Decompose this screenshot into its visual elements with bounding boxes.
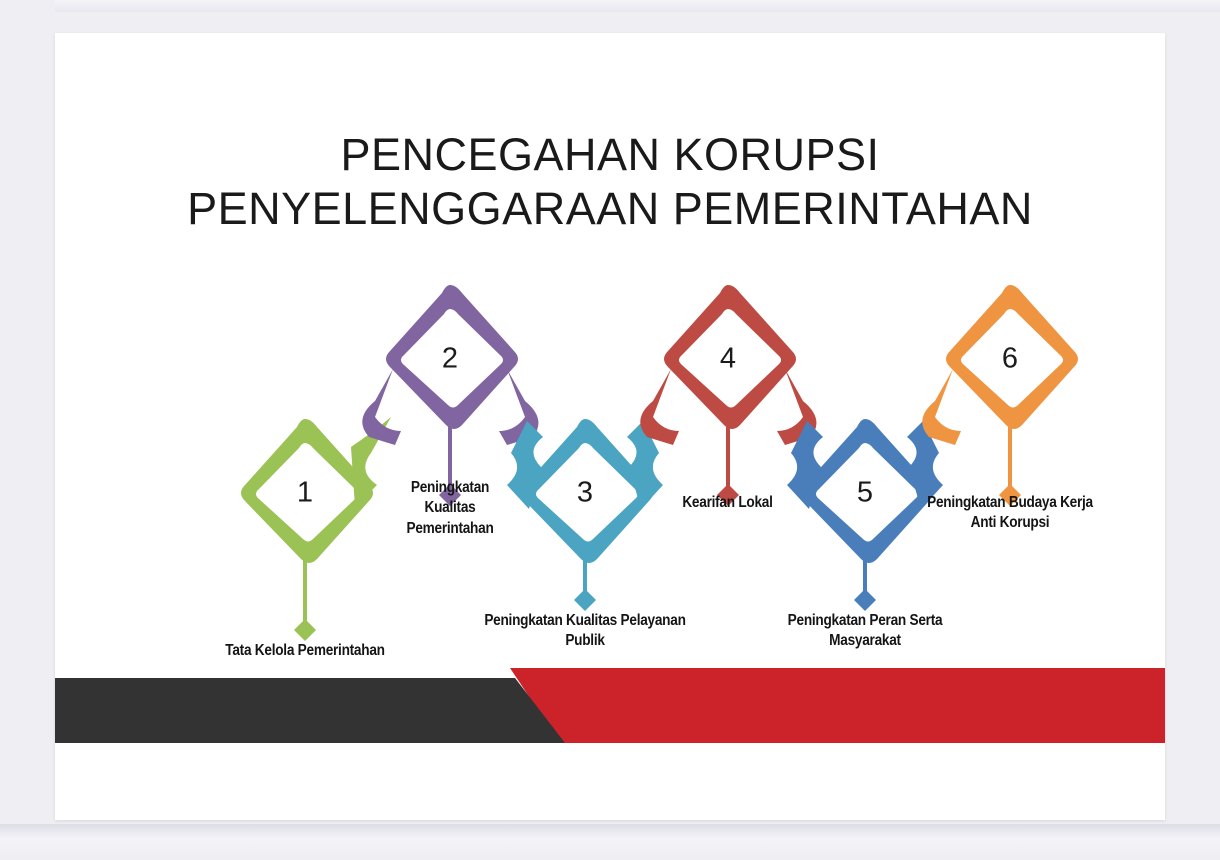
caption-node-2-line-2: Kualitas [358, 498, 543, 518]
caption-node-2-line-3: Pemerintahan [358, 519, 543, 539]
node-1-dot [294, 619, 316, 641]
bottom-banner [55, 668, 1165, 743]
node-2-group[interactable]: 2 [362, 285, 538, 506]
slide-strip-above [55, 0, 1220, 12]
node-2-connector-left [362, 369, 401, 445]
node-5-dot [854, 589, 876, 611]
node-4-connector-left [640, 369, 679, 445]
slide-strip-below [0, 838, 1220, 860]
caption-node-6-line-2: Anti Korupsi [838, 513, 1165, 533]
node-1-number: 1 [297, 477, 313, 509]
chain-svg: 1 2 [55, 33, 1165, 820]
caption-node-5: Peningkatan Peran Serta Masyarakat [702, 611, 1028, 652]
node-6-connector-left [922, 369, 961, 445]
page-root: PENCEGAHAN KORUPSI PENYELENGGARAAN PEMER… [0, 0, 1220, 860]
banner-red-band [510, 668, 1165, 743]
node-4-group[interactable]: 4 [640, 285, 816, 506]
caption-node-6-line-1: Peningkatan Budaya Kerja [838, 493, 1165, 513]
node-6-group[interactable]: 6 [922, 285, 1078, 506]
caption-node-5-line-2: Masyarakat [702, 631, 1028, 651]
process-chain: 1 2 [55, 33, 1165, 820]
caption-node-2-line-1: Peningkatan [358, 478, 543, 498]
slide-card: PENCEGAHAN KORUPSI PENYELENGGARAAN PEMER… [55, 33, 1165, 820]
caption-node-6: Peningkatan Budaya Kerja Anti Korupsi [838, 493, 1165, 534]
node-6-number: 6 [1002, 343, 1018, 375]
node-2-number: 2 [442, 343, 458, 375]
caption-node-4-line-1: Kearifan Lokal [611, 493, 844, 513]
banner-dark-band [55, 678, 565, 743]
node-4-number: 4 [720, 343, 736, 375]
caption-node-2: Peningkatan Kualitas Pemerintahan [358, 478, 543, 539]
caption-node-4: Kearifan Lokal [611, 493, 844, 513]
slide-shadow [0, 824, 1220, 838]
node-3-dot [574, 589, 596, 611]
node-3-number: 3 [577, 477, 593, 509]
caption-node-5-line-1: Peningkatan Peran Serta [702, 611, 1028, 631]
